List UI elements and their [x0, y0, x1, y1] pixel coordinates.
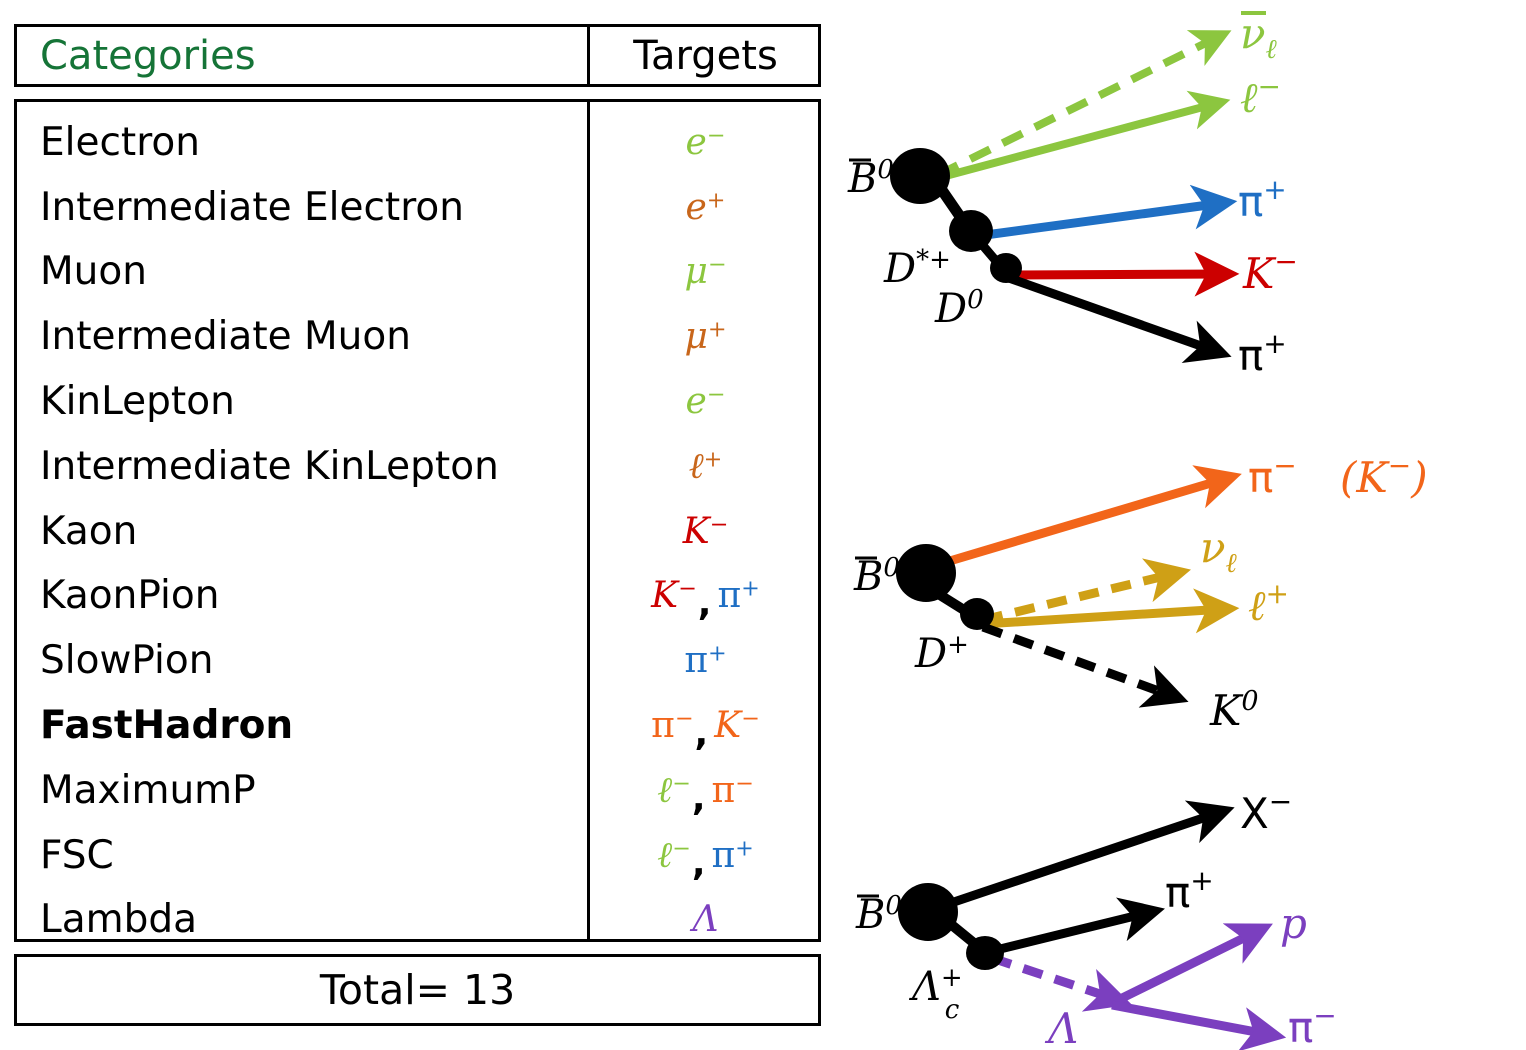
d3-arrow-proton — [1112, 930, 1260, 1003]
category-row: MaximumP — [40, 758, 580, 823]
d3-label-X-minus: X− — [1240, 785, 1292, 838]
target-symbol: K− — [714, 705, 760, 746]
category-list: ElectronIntermediate ElectronMuonInterme… — [40, 110, 580, 952]
target-charge: + — [708, 317, 727, 343]
column-header-targets: Targets — [590, 24, 821, 87]
target-charge: − — [672, 771, 691, 797]
d3-label-B0bar: B0 — [855, 891, 902, 938]
category-row: KaonPion — [40, 564, 580, 629]
target-symbol: ℓ− — [657, 834, 691, 876]
target-symbol: π− — [651, 705, 693, 746]
d2-label-neutrino: νℓ — [1200, 523, 1238, 579]
target-charge: − — [707, 122, 726, 148]
categories-table-panel: Categories Targets ElectronIntermediate … — [0, 0, 840, 1050]
d2-arrow-pion-minus — [943, 478, 1228, 563]
d1-arrow-pion-plus-black — [1006, 277, 1218, 352]
target-charge: − — [678, 576, 697, 602]
category-row: Kaon — [40, 499, 580, 564]
d1-label-Dstar-plus: D*+ — [883, 245, 951, 292]
d1-label-pion-plus-blue: π+ — [1238, 173, 1287, 226]
decay-diagrams-panel: B0 D*+ D0 νℓ ℓ− π+ K− π+ — [840, 0, 1526, 1050]
target-row: μ− — [590, 240, 821, 305]
category-row: Intermediate Electron — [40, 175, 580, 240]
target-symbol: π+ — [717, 575, 759, 616]
target-symbol: e− — [685, 381, 725, 422]
d3-vertex-B0bar — [898, 883, 958, 941]
target-row: e− — [590, 369, 821, 434]
category-row: SlowPion — [40, 628, 580, 693]
total-label: Total= 13 — [14, 954, 821, 1026]
d1-label-antineutrino: νℓ — [1240, 9, 1278, 65]
target-list: e−e+μ−μ+e−ℓ+K−K−,π+π+π−,K−ℓ−,π−ℓ−,π+Λ — [590, 110, 821, 952]
d1-label-D0: D0 — [934, 285, 984, 332]
target-symbol: μ+ — [684, 316, 726, 357]
target-symbol: e− — [685, 122, 725, 163]
diagram-2-group: B0 D+ π− (K−) νℓ ℓ+ K0 — [853, 449, 1428, 735]
d2-label-K0: K0 — [1209, 686, 1259, 735]
target-symbol: ℓ+ — [689, 445, 723, 487]
d2-arrow-K0 — [983, 627, 1175, 697]
target-charge: + — [707, 187, 726, 213]
target-charge: + — [741, 576, 760, 602]
column-header-categories: Categories — [40, 24, 256, 87]
target-charge: − — [735, 770, 754, 796]
diagram-3-group: B0 Λ+c X− π+ Λ p π− — [855, 785, 1337, 1050]
target-charge: + — [708, 641, 727, 667]
d3-label-lambda: Λ — [1044, 1004, 1078, 1050]
target-charge: − — [672, 836, 691, 862]
d1-label-lepton-minus: ℓ− — [1240, 70, 1281, 122]
target-separator: , — [692, 843, 706, 888]
category-row: Intermediate Muon — [40, 304, 580, 369]
target-row: μ+ — [590, 304, 821, 369]
category-row: FSC — [40, 823, 580, 888]
target-symbol: K− — [683, 511, 729, 552]
target-charge: − — [710, 511, 729, 537]
d3-arrow-pion-minus — [1112, 1005, 1272, 1035]
target-charge: + — [735, 835, 754, 861]
target-symbol: π+ — [684, 640, 726, 681]
target-charge: − — [708, 252, 727, 278]
d1-label-kaon-minus: K− — [1242, 245, 1298, 298]
target-row: Λ — [590, 888, 821, 953]
target-symbol: μ− — [684, 251, 726, 292]
category-row: Electron — [40, 110, 580, 175]
target-charge: − — [675, 705, 694, 731]
target-row: π−,K− — [590, 693, 821, 758]
target-row: ℓ−,π+ — [590, 823, 821, 888]
d2-vertex-B0bar — [896, 544, 956, 602]
d1-vertex-B0bar — [890, 148, 950, 204]
d1-label-pion-plus-black: π+ — [1238, 327, 1287, 380]
target-row: K−,π+ — [590, 564, 821, 629]
d1-label-B0bar: B0 — [847, 155, 894, 202]
d3-label-LambdaC-plus: Λ+c — [908, 963, 963, 1025]
target-symbol: K− — [651, 575, 697, 616]
target-separator: , — [695, 713, 709, 758]
target-symbol: e+ — [685, 187, 725, 228]
diagram-1-group: B0 D*+ D0 νℓ ℓ− π+ K− π+ — [841, 1, 1298, 380]
category-row: Intermediate KinLepton — [40, 434, 580, 499]
d1-vertex-D0 — [990, 253, 1022, 283]
d2-label-alt-kaon-minus: (K−) — [1340, 449, 1428, 502]
target-row: π+ — [590, 628, 821, 693]
d2-label-B0bar: B0 — [853, 553, 900, 600]
d1-vertex-Dstar-plus — [949, 210, 993, 252]
target-symbol: Λ — [693, 899, 719, 940]
d1-arrow-pion-plus-blue — [978, 203, 1223, 236]
d3-arrow-lambda — [992, 958, 1118, 1000]
d1-arrow-kaon-minus — [1008, 274, 1225, 275]
d3-arrow-pion-plus — [992, 912, 1151, 951]
d1-arrow-antineutrino — [938, 36, 1220, 175]
target-row: e+ — [590, 175, 821, 240]
target-charge: + — [704, 447, 723, 473]
target-row: ℓ−,π− — [590, 758, 821, 823]
target-separator: , — [692, 778, 706, 823]
target-row: e− — [590, 110, 821, 175]
category-row: KinLepton — [40, 369, 580, 434]
category-row: FastHadron — [40, 693, 580, 758]
d3-vertex-LambdaC-plus — [966, 936, 1004, 970]
d3-label-pion-plus: π+ — [1165, 864, 1214, 917]
category-row: Muon — [40, 240, 580, 305]
target-separator: , — [698, 583, 712, 628]
target-row: K− — [590, 499, 821, 564]
target-symbol: π− — [712, 770, 754, 811]
d2-label-lepton-plus: ℓ+ — [1248, 577, 1289, 630]
d2-vertex-Dplus — [960, 598, 994, 630]
d3-label-proton: p — [1280, 899, 1307, 948]
target-charge: − — [707, 381, 726, 407]
target-charge: − — [741, 705, 760, 731]
d2-label-pion-minus: π− — [1248, 449, 1297, 502]
d2-label-Dplus: D+ — [914, 630, 969, 677]
target-row: ℓ+ — [590, 434, 821, 499]
target-symbol: ℓ− — [657, 769, 691, 811]
d1-arrow-lepton-minus — [938, 103, 1218, 178]
category-row: Lambda — [40, 888, 580, 953]
d3-label-pion-minus: π− — [1288, 999, 1337, 1050]
target-symbol: π+ — [712, 835, 754, 876]
